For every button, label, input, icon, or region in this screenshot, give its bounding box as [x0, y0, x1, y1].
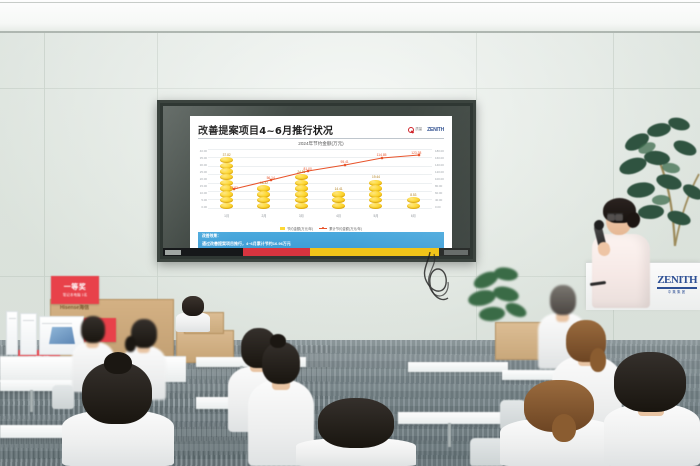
- line-point-label: 37.82: [230, 186, 238, 190]
- x-axis-label: 1月: [224, 213, 229, 218]
- y-tick-right: 120.00: [435, 170, 444, 174]
- legend-item-bar: 节约金额(万元/年): [280, 226, 313, 231]
- prize-sign-first: 一等奖 笔记本电脑 1名: [51, 276, 99, 304]
- box-print-line: [23, 320, 34, 321]
- x-axis-label: 6月: [411, 213, 416, 218]
- y-tick: 35.00: [200, 156, 207, 160]
- y-tick: 15.00: [200, 184, 207, 188]
- coin-icon: [257, 203, 270, 210]
- y-axis-left: 40.00 35.00 30.00 25.00 20.00 15.00 10.0…: [191, 149, 207, 209]
- q-brand-logo: 质量: [408, 127, 422, 133]
- legend-swatch-bar: [280, 227, 285, 230]
- prize-box-brand: Hisense海信: [60, 304, 89, 311]
- person-head: [550, 285, 576, 315]
- prize-detail: 笔记本电脑 1名: [63, 293, 88, 298]
- y-tick: 20.00: [200, 177, 207, 181]
- y-tick: 30.00: [200, 163, 207, 167]
- line-point-label: 81.00: [304, 167, 312, 171]
- prize-rank: 一等奖: [64, 282, 87, 292]
- chart-plot-area: 40.00 35.00 30.00 25.00 20.00 15.00 10.0…: [208, 149, 432, 219]
- coin-stack: [220, 158, 233, 209]
- person-head: [81, 316, 105, 343]
- bar-series: 37.821月18.322月24.863月14.414月19.445月8.536…: [208, 149, 432, 209]
- hanging-cable: [418, 252, 478, 314]
- podium-zenith-text: ZENITH: [657, 274, 697, 286]
- line-point-label: 114.85: [377, 153, 387, 157]
- conclusion-text: 通过改善提案项目推行，4~6月累计节约16.96万元: [202, 241, 440, 247]
- y-axis-right: 180.00 160.00 140.00 120.00 100.00 80.00…: [435, 149, 451, 209]
- ceiling-seam-top: [0, 2, 700, 3]
- legend-item-line: 累计节约金额(万元/年): [319, 226, 362, 231]
- y-tick: 40.00: [200, 149, 207, 153]
- legend-swatch-line: [319, 228, 327, 229]
- coin-stack: [257, 186, 270, 209]
- glasses-icon: [607, 213, 623, 218]
- coin-stack: [369, 180, 382, 209]
- bar-column: 37.821月: [216, 149, 238, 209]
- y-tick-right: 60.00: [435, 191, 442, 195]
- table: [408, 362, 508, 372]
- coin-icon: [295, 203, 308, 210]
- y-tick: 0.00: [201, 205, 207, 209]
- line-point-label: 95.41: [340, 160, 348, 164]
- q-brand-text: 质量: [415, 128, 422, 132]
- coin-icon: [407, 203, 420, 210]
- x-axis-label: 3月: [299, 213, 304, 218]
- person-ponytail: [125, 336, 136, 352]
- coin-stack: [407, 198, 420, 209]
- x-axis-label: 5月: [373, 213, 378, 218]
- person-ponytail: [552, 414, 576, 442]
- audience-member-front: [500, 380, 618, 466]
- person-head: [262, 342, 300, 384]
- bar-value-label: 8.53: [410, 193, 416, 197]
- zenith-logo: ZENITH: [427, 127, 444, 133]
- chart-title: 2024年节约金额(万元): [190, 141, 452, 147]
- y-tick-right: 80.00: [435, 184, 442, 188]
- audience-member-front: [604, 352, 700, 466]
- prize-product-box: [20, 313, 37, 355]
- y-tick-right: 140.00: [435, 163, 444, 167]
- x-axis-label: 2月: [262, 213, 267, 218]
- box-print-line: [42, 323, 72, 324]
- chair: [470, 438, 504, 466]
- chart-legend: 节约金额(万元/年) 累计节约金额(万元/年): [190, 226, 452, 231]
- table-leg: [448, 423, 451, 447]
- y-tick-right: 160.00: [435, 156, 444, 160]
- slide-header: 改善提案项目4~6月推行状况 质量 ZENITH: [198, 122, 444, 137]
- audience-member-front: [296, 404, 416, 466]
- presentation-slide: 改善提案项目4~6月推行状况 质量 ZENITH 2024年节约金额(万元) 4…: [190, 116, 452, 251]
- legend-label-bar: 节约金额(万元/年): [287, 226, 313, 231]
- coin-stack: [332, 192, 345, 209]
- bar-column: 24.863月: [290, 149, 312, 209]
- display-label-left: [165, 250, 181, 255]
- audience-member: [176, 296, 210, 332]
- table-leg: [30, 390, 33, 412]
- presenter: [592, 196, 654, 306]
- wall-seam: [44, 33, 45, 363]
- wall-mounted-display[interactable]: 改善提案项目4~6月推行状况 质量 ZENITH 2024年节约金额(万元) 4…: [157, 100, 476, 262]
- conclusion-heading: 改善效果：: [202, 234, 440, 239]
- line-point-label: 123.38: [411, 151, 421, 155]
- slide-title: 改善提案项目4~6月推行状况: [198, 122, 333, 137]
- slide-logo-group: 质量 ZENITH: [408, 127, 444, 133]
- x-axis-label: 4月: [336, 213, 341, 218]
- strip-segment-red: [243, 248, 311, 256]
- person-head: [318, 398, 394, 448]
- bar-column: 14.414月: [328, 149, 350, 209]
- y-tick-right: 40.00: [435, 198, 442, 202]
- prize-product-box: [6, 311, 18, 355]
- y-tick-right: 0.00: [435, 205, 441, 209]
- title-divider: [198, 138, 444, 139]
- ceiling: [0, 0, 700, 33]
- coin-icon: [220, 203, 233, 210]
- y-tick: 10.00: [200, 191, 207, 195]
- coin-icon: [369, 203, 382, 210]
- coin-icon: [332, 203, 345, 210]
- coin-stack: [295, 175, 308, 209]
- wall-seam-horizontal: [0, 88, 700, 89]
- bar-column: 8.536月: [402, 149, 424, 209]
- person-hair-bun: [270, 334, 286, 348]
- podium-zenith-sub: 中集集团: [657, 289, 697, 294]
- person-hair-bun: [104, 352, 132, 374]
- box-print-line: [9, 318, 16, 319]
- person-head: [614, 352, 686, 412]
- bar-column: 19.445月: [365, 149, 387, 209]
- display-panel: 改善提案项目4~6月推行状况 质量 ZENITH 2024年节约金额(万元) 4…: [163, 106, 470, 256]
- y-tick-right: 100.00: [435, 177, 444, 181]
- legend-label-line: 累计节约金额(万元/年): [329, 226, 362, 231]
- y-tick-right: 180.00: [435, 149, 444, 153]
- audience-member-front: [62, 362, 174, 466]
- conference-room-scene: 改善提案项目4~6月推行状况 质量 ZENITH 2024年节约金额(万元) 4…: [0, 0, 700, 466]
- line-point-label: 56.14: [267, 176, 275, 180]
- bar-value-label: 19.44: [372, 175, 380, 179]
- q-circle-icon: [408, 127, 414, 133]
- y-tick: 25.00: [200, 170, 207, 174]
- podium-zenith-logo: ZENITH 中集集团: [657, 274, 697, 294]
- conclusion-callout: 改善效果： 通过改善提案项目推行，4~6月累计节约16.96万元: [198, 232, 444, 249]
- person-head: [182, 296, 204, 316]
- y-tick: 5.00: [201, 198, 207, 202]
